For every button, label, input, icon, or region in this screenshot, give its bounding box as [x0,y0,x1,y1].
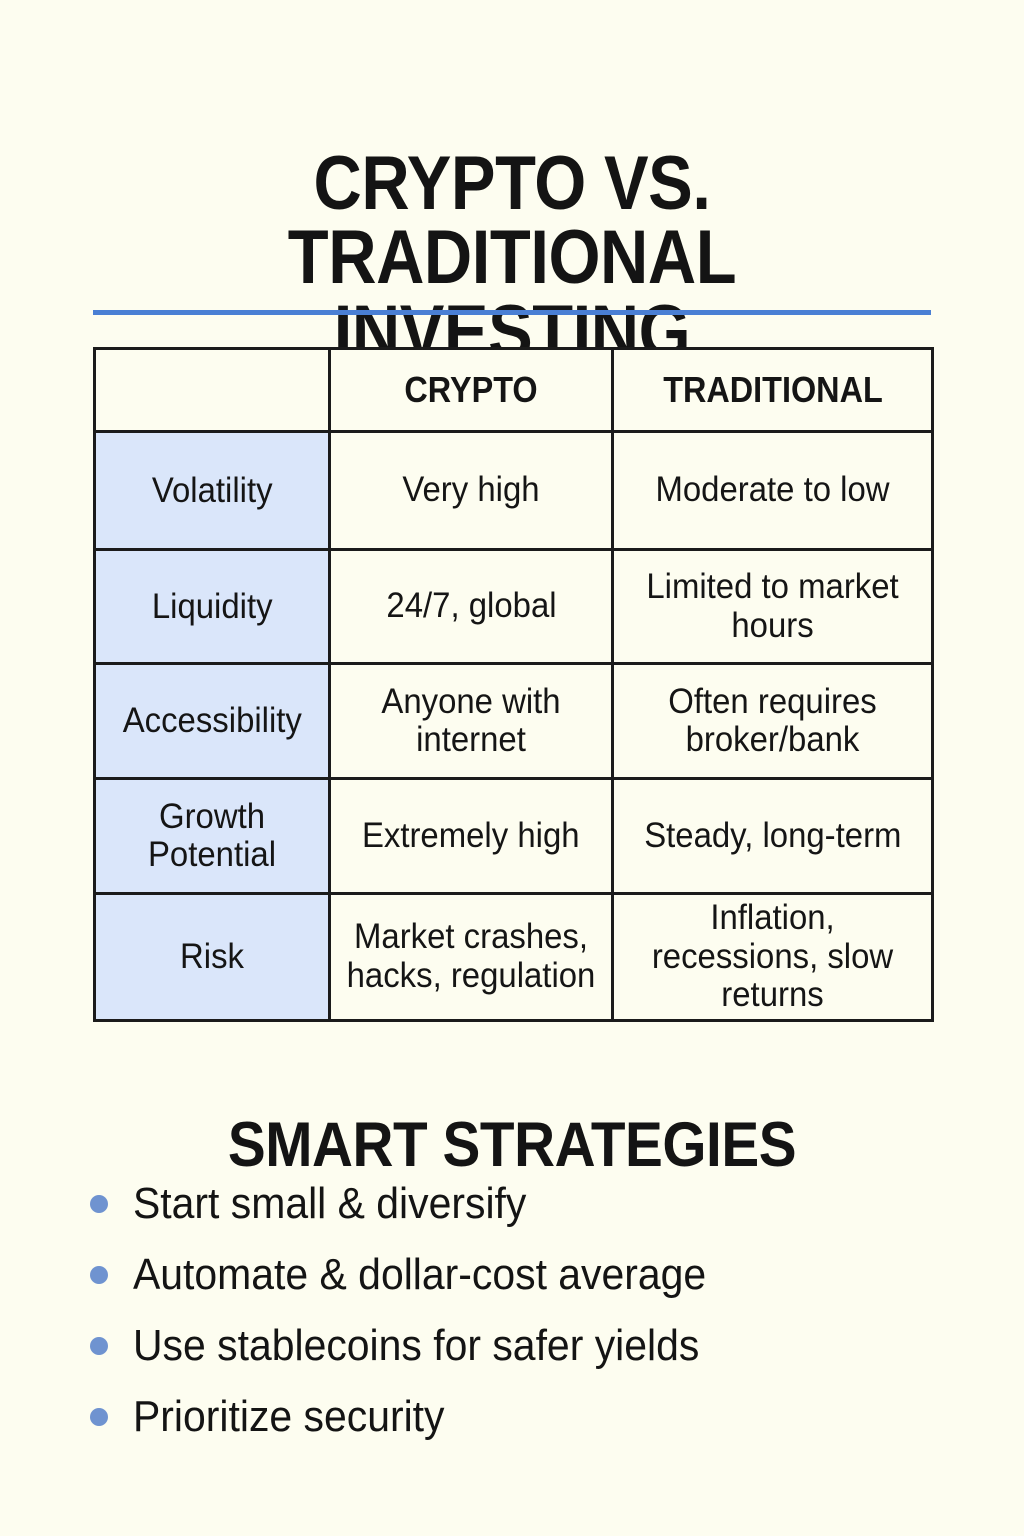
column-header-traditional: TRADITIONAL [613,349,933,432]
column-header-crypto-label: CRYPTO [404,369,537,411]
bullet-dot-icon [90,1408,108,1426]
row-label-risk: Risk [95,894,330,1021]
row-label-text: Risk [180,938,244,976]
cell-text: 24/7, global [386,587,556,626]
list-item-label: Prioritize security [133,1395,445,1439]
bullet-dot-icon [90,1337,108,1355]
cell-text: Often requires broker/bank [629,683,916,760]
cell-text: Steady, long-term [644,817,901,856]
row-label-liquidity: Liquidity [95,550,330,664]
table-header: CRYPTO TRADITIONAL [95,349,933,432]
cell-text: Extremely high [362,817,580,856]
row-label-volatility: Volatility [95,432,330,550]
list-item-label: Use stablecoins for safer yields [133,1324,699,1368]
list-item: Automate & dollar-cost average [86,1239,966,1310]
comparison-table: CRYPTO TRADITIONAL Volatility Very high [93,347,934,1022]
list-item-label: Automate & dollar-cost average [133,1253,706,1297]
row-label-text: Liquidity [152,588,273,626]
cell-volatility-crypto: Very high [330,432,613,550]
row-label-text: Accessibility [122,702,301,740]
list-item-label: Start small & diversify [133,1182,526,1226]
table-row: Risk Market crashes, hacks, regulation I… [95,894,933,1021]
cell-text: Inflation, recessions, slow returns [629,899,916,1015]
cell-text: Market crashes, hacks, regulation [345,918,597,995]
cell-accessibility-crypto: Anyone with internet [330,664,613,779]
list-item: Use stablecoins for safer yields [86,1310,966,1381]
cell-text: Anyone with internet [345,683,597,760]
cell-liquidity-crypto: 24/7, global [330,550,613,664]
table-row: Growth Potential Extremely high Steady, … [95,779,933,894]
bullet-dot-icon [90,1266,108,1284]
column-header-traditional-label: TRADITIONAL [663,369,883,411]
row-label-growth-potential: Growth Potential [95,779,330,894]
strategies-list: Start small & diversify Automate & dolla… [86,1168,966,1452]
list-item: Prioritize security [86,1381,966,1452]
bullet-dot-icon [90,1195,108,1213]
page-title: CRYPTO VS. TRADITIONAL INVESTING [116,147,908,370]
table-row: Volatility Very high Moderate to low [95,432,933,550]
table-header-row: CRYPTO TRADITIONAL [95,349,933,432]
table-corner-cell [95,349,330,432]
cell-risk-traditional: Inflation, recessions, slow returns [613,894,933,1021]
row-label-text: Volatility [152,472,273,510]
row-label-text: Growth Potential [109,798,316,874]
cell-text: Moderate to low [655,471,889,510]
table-row: Liquidity 24/7, global Limited to market… [95,550,933,664]
cell-volatility-traditional: Moderate to low [613,432,933,550]
cell-risk-crypto: Market crashes, hacks, regulation [330,894,613,1021]
column-header-crypto: CRYPTO [330,349,613,432]
table-body: Volatility Very high Moderate to low Liq… [95,432,933,1021]
comparison-table-container: CRYPTO TRADITIONAL Volatility Very high [93,347,931,1022]
cell-liquidity-traditional: Limited to market hours [613,550,933,664]
cell-growth-potential-traditional: Steady, long-term [613,779,933,894]
cell-accessibility-traditional: Often requires broker/bank [613,664,933,779]
list-item: Start small & diversify [86,1168,966,1239]
cell-growth-potential-crypto: Extremely high [330,779,613,894]
table-row: Accessibility Anyone with internet Often… [95,664,933,779]
title-divider-rule [93,310,931,315]
cell-text: Very high [402,471,539,510]
infographic-page: CRYPTO VS. TRADITIONAL INVESTING CRYPTO … [0,0,1024,1536]
cell-text: Limited to market hours [629,568,916,645]
row-label-accessibility: Accessibility [95,664,330,779]
